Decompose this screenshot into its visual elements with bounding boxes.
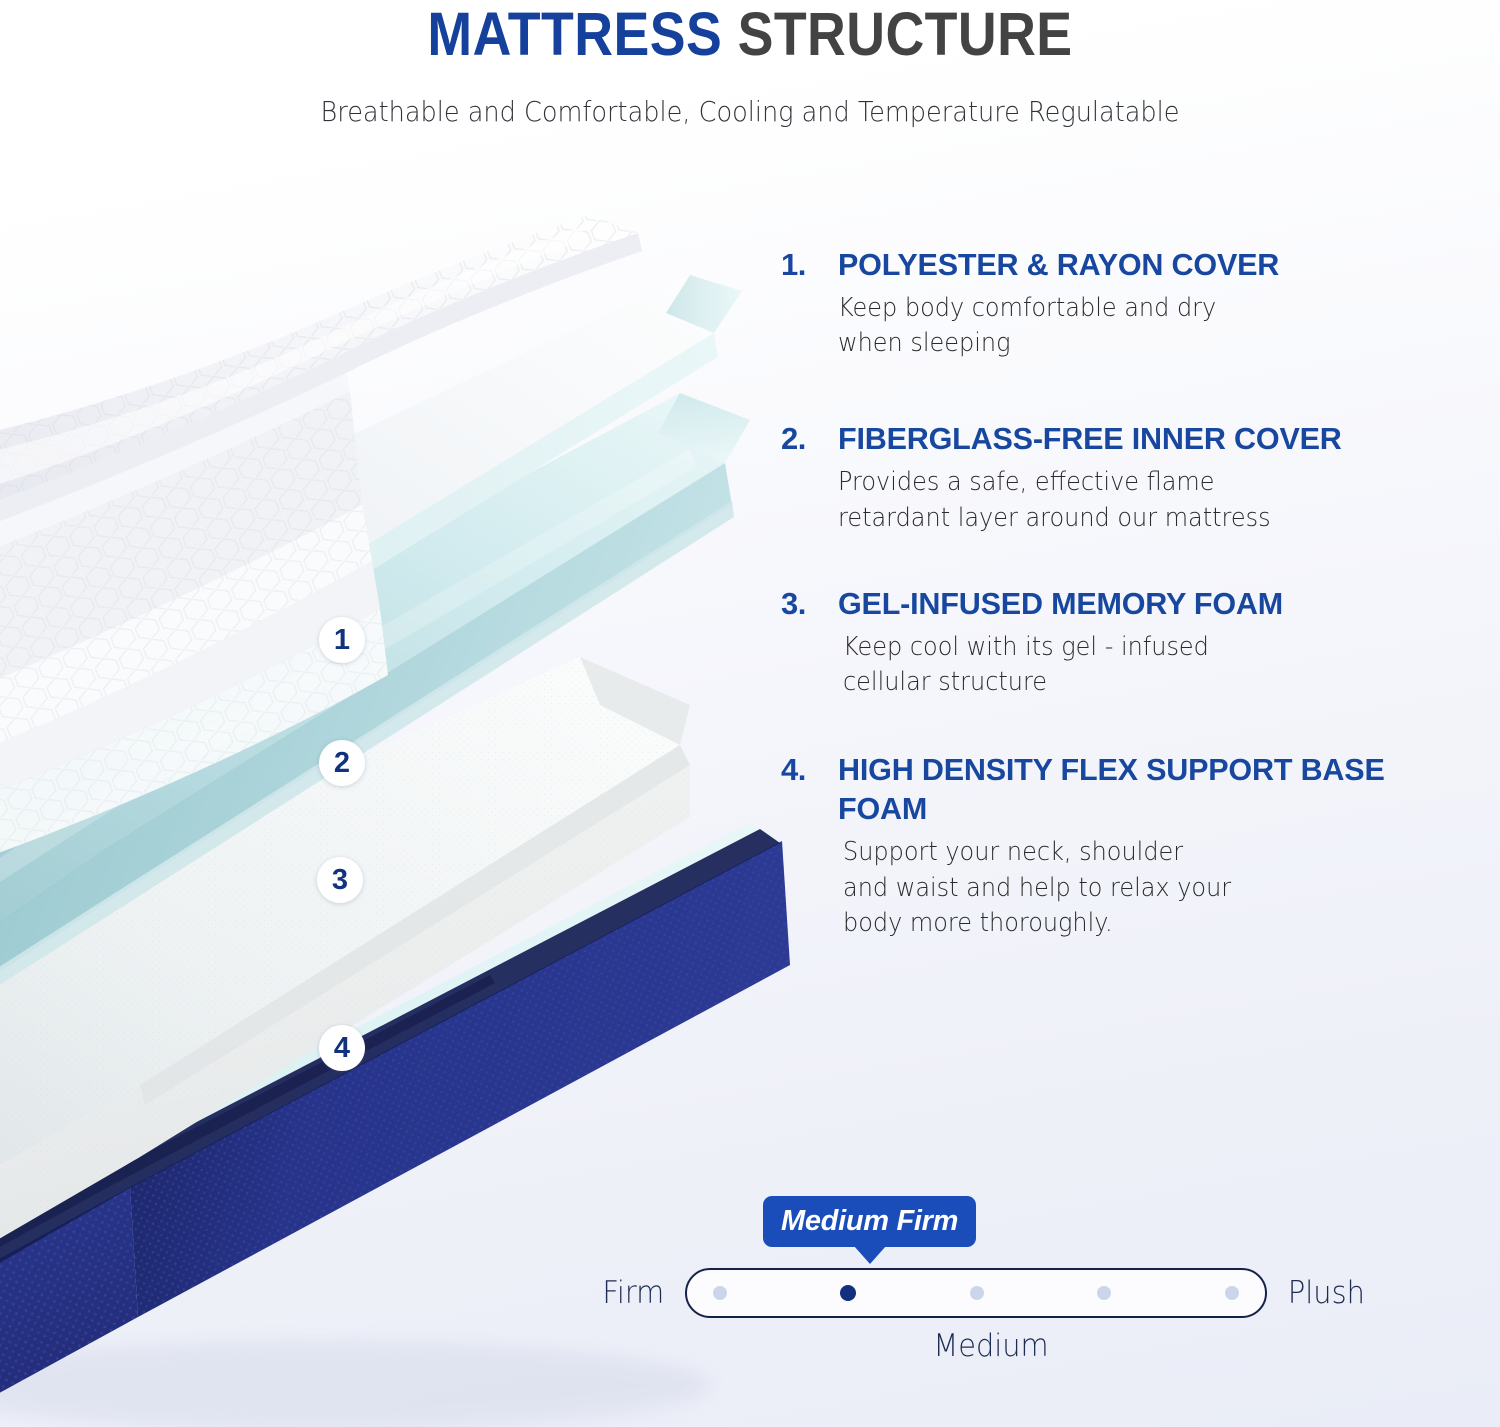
feature-title: GEL-INFUSED MEMORY FOAM [838, 584, 1283, 623]
feature-item-polyester-rayon-cover: 1. POLYESTER & RAYON COVER Keep body com… [781, 245, 1471, 361]
feature-heading: 4. HIGH DENSITY FLEX SUPPORT BASE FOAM [781, 750, 1471, 828]
page-title-blue: MATTRESS [427, 0, 722, 68]
header: MATTRESS STRUCTURE Breathable and Comfor… [0, 0, 1500, 128]
infographic-page: MATTRESS STRUCTURE Breathable and Comfor… [0, 0, 1500, 1427]
firmness-tooltip-label: Medium Firm [781, 1204, 958, 1238]
firmness-tooltip: Medium Firm [763, 1196, 976, 1247]
tooltip-pointer-icon [854, 1246, 886, 1264]
feature-heading: 2. FIBERGLASS-FREE INNER COVER [781, 419, 1471, 458]
page-title: MATTRESS STRUCTURE [90, 0, 1410, 68]
feature-title: POLYESTER & RAYON COVER [838, 245, 1279, 284]
firmness-dot-2[interactable] [840, 1285, 856, 1301]
feature-item-gel-infused-memory-foam: 3. GEL-INFUSED MEMORY FOAM Keep cool wit… [781, 584, 1471, 700]
feature-description: Provides a safe, effective flame retarda… [838, 465, 1433, 535]
feature-number: 4. [781, 750, 838, 789]
feature-description: Keep body comfortable and dry when sleep… [838, 291, 1433, 361]
feature-item-fiberglass-free-inner-cover: 2. FIBERGLASS-FREE INNER COVER Provides … [781, 419, 1471, 535]
layer-badge-3: 3 [317, 857, 363, 903]
layer-badge-1: 1 [319, 617, 365, 663]
feature-description: Keep cool with its gel - infused cellula… [843, 630, 1433, 700]
feature-item-high-density-flex-support-base-foam: 4. HIGH DENSITY FLEX SUPPORT BASE FOAM S… [781, 750, 1471, 941]
feature-list: 1. POLYESTER & RAYON COVER Keep body com… [781, 245, 1471, 941]
page-subtitle: Breathable and Comfortable, Cooling and … [53, 68, 1448, 128]
firmness-dot-3[interactable] [970, 1286, 984, 1300]
feature-number: 1. [781, 245, 838, 284]
feature-description: Support your neck, shoulder and waist an… [843, 835, 1433, 941]
firmness-label-medium: Medium [627, 1328, 1354, 1364]
firmness-track-row: Firm Plush [600, 1268, 1460, 1318]
firmness-dot-5[interactable] [1225, 1286, 1239, 1300]
feature-heading: 3. GEL-INFUSED MEMORY FOAM [781, 584, 1471, 623]
layer-badge-2: 2 [319, 740, 365, 786]
firmness-scale: Medium Firm Firm Plush Medium [600, 1196, 1460, 1386]
feature-heading: 1. POLYESTER & RAYON COVER [781, 245, 1471, 284]
page-title-dark: STRUCTURE [738, 0, 1073, 68]
firmness-dot-4[interactable] [1097, 1286, 1111, 1300]
firmness-label-firm: Firm [602, 1278, 664, 1309]
firmness-dot-1[interactable] [713, 1286, 727, 1300]
firmness-label-plush: Plush [1287, 1278, 1364, 1309]
layer-badge-4: 4 [319, 1025, 365, 1071]
feature-title: FIBERGLASS-FREE INNER COVER [838, 419, 1342, 458]
feature-title: HIGH DENSITY FLEX SUPPORT BASE FOAM [838, 750, 1462, 828]
feature-number: 2. [781, 419, 838, 458]
firmness-slider-track[interactable] [685, 1268, 1267, 1318]
feature-number: 3. [781, 584, 838, 623]
